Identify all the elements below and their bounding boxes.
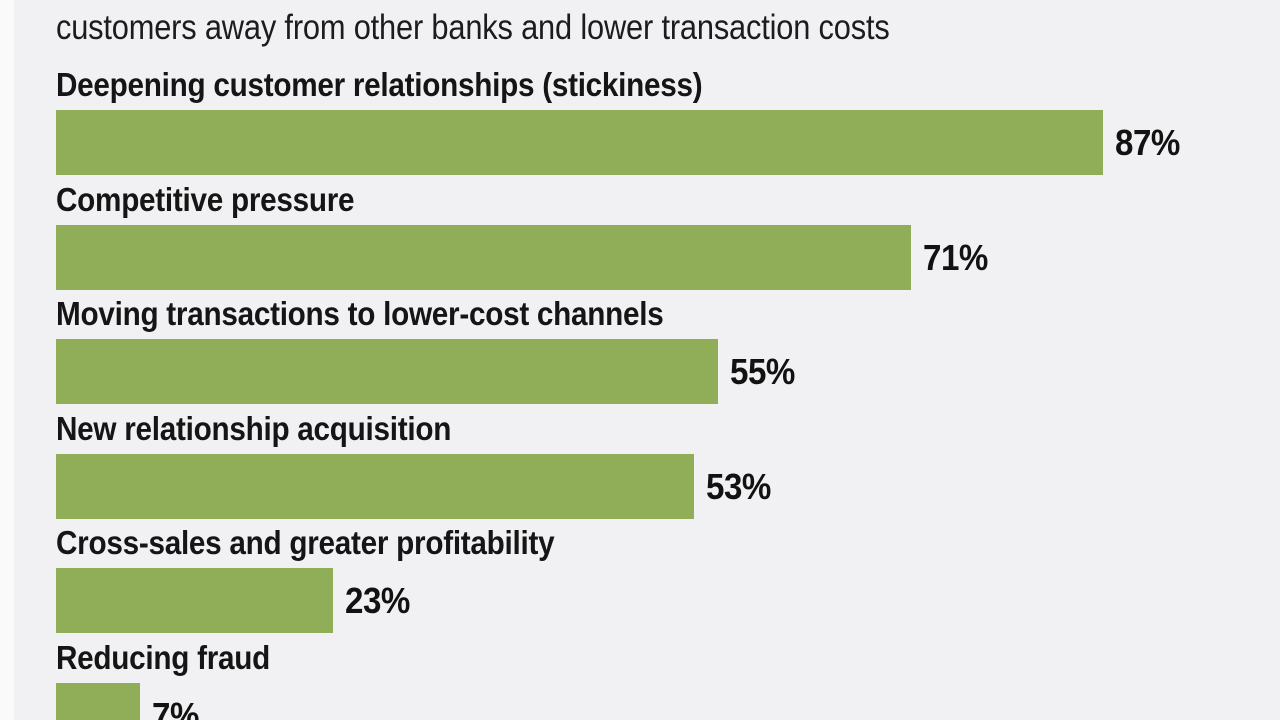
bar-rect[interactable] [56, 110, 1103, 175]
bar-value-label: 53% [706, 467, 771, 507]
bars-area: Deepening customer relationships (sticki… [0, 0, 1280, 720]
bar-rect[interactable] [56, 225, 911, 290]
bar-rect[interactable] [56, 568, 333, 633]
bar-rect[interactable] [56, 454, 694, 519]
bar-value-label: 23% [345, 581, 410, 621]
bar-value-label: 87% [1115, 123, 1180, 163]
bar-value-label: 7% [152, 696, 199, 720]
bar-category-label: Competitive pressure [56, 181, 354, 219]
bar-category-label: Reducing fraud [56, 639, 270, 677]
bar-value-label: 71% [923, 238, 988, 278]
bar-rect[interactable] [56, 683, 140, 720]
bar-category-label: Cross-sales and greater profitability [56, 524, 554, 562]
bar-rect[interactable] [56, 339, 718, 404]
bar-category-label: Moving transactions to lower-cost channe… [56, 295, 664, 333]
bar-chart-figure: customers away from other banks and lowe… [0, 0, 1280, 720]
bar-category-label: New relationship acquisition [56, 410, 451, 448]
bar-value-label: 55% [730, 352, 795, 392]
bar-category-label: Deepening customer relationships (sticki… [56, 66, 702, 104]
